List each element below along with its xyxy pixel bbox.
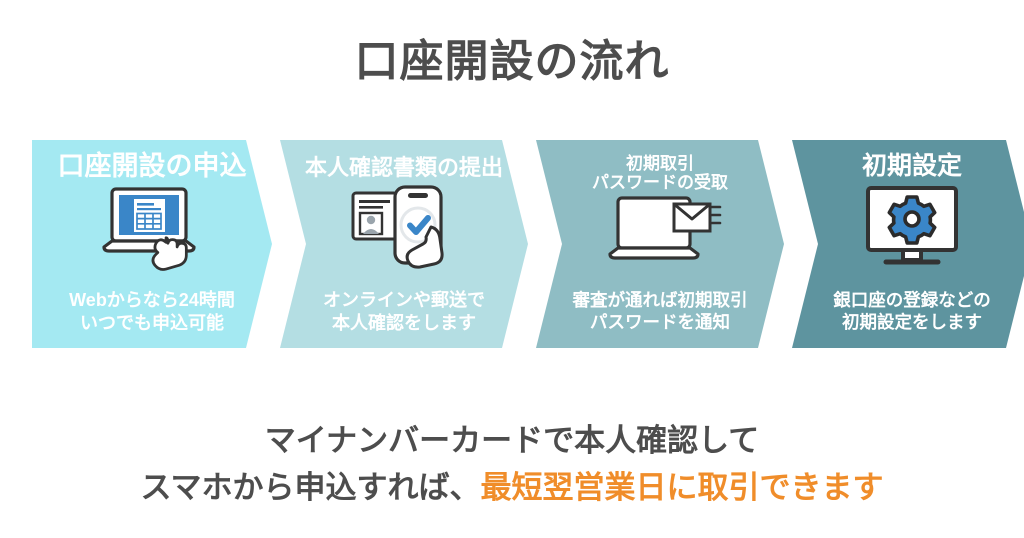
monitor-gear-icon (860, 182, 964, 270)
id-card-smartphone-check-icon (345, 181, 463, 271)
footer-line-2-highlight: 最短翌営業日に取引できます (481, 470, 884, 505)
footer-line-1: マイナンバーカードで本人確認して (0, 418, 1024, 465)
infographic-page: 口座開設の流れ 口座開設の申込 (0, 0, 1024, 538)
step-2-caption: オンラインや郵送で 本人確認をします (323, 289, 485, 334)
footer-line-2-prefix: スマホから申込すれば、 (140, 470, 480, 505)
step-1-title: 口座開設の申込 (58, 151, 247, 181)
step-1-caption: Webからなら24時間 いつでも申込可能 (69, 289, 235, 334)
footer-message: マイナンバーカードで本人確認して スマホから申込すれば、最短翌営業日に取引できま… (0, 418, 1024, 511)
step-1-account-application: 口座開設の申込 (32, 140, 272, 348)
step-4-caption: 銀口座の登録などの 初期設定をします (833, 290, 991, 334)
footer-line-2: スマホから申込すれば、最短翌営業日に取引できます (0, 465, 1024, 512)
step-2-identity-documents: 本人確認書類の提出 オンラインや郵送で 本人確認をします (280, 140, 528, 348)
step-4-initial-setup: 初期設定 銀口座の登録などの 初期設定をします (792, 140, 1024, 348)
laptop-envelope-icon (598, 192, 722, 276)
page-title: 口座開設の流れ (0, 36, 1024, 89)
step-2-title: 本人確認書類の提出 (305, 156, 503, 181)
step-4-title: 初期設定 (862, 152, 962, 180)
steps-flow: 口座開設の申込 (32, 140, 992, 348)
laptop-form-hand-icon (90, 183, 214, 271)
step-3-title: 初期取引 パスワードの受取 (592, 154, 728, 192)
step-3-caption: 審査が通れば初期取引 パスワードを通知 (573, 290, 748, 334)
step-3-password-receipt: 初期取引 パスワードの受取 審査が通れば初期取引 パスワードを通知 (536, 140, 784, 348)
